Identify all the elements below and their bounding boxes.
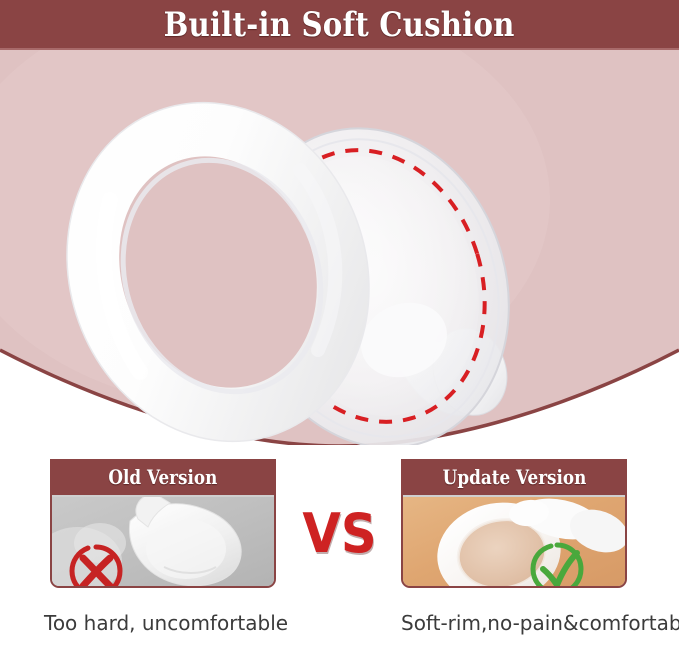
update-version-label: Update Version: [442, 467, 586, 487]
update-version-caption: Soft-rim,no-pain&comfortable: [401, 611, 627, 635]
vs-label: VS: [296, 507, 383, 561]
old-version-caption: Too hard, uncomfortable: [44, 611, 270, 635]
old-version-photo: [52, 497, 274, 588]
product-infographic: Built-in Soft Cushion: [0, 0, 679, 671]
page-title: Built-in Soft Cushion: [164, 8, 515, 42]
update-version-card[interactable]: Update Version Soft-rim,no-pain&comforta…: [401, 459, 627, 588]
old-version-card[interactable]: Old Version Too hard, uncomfortable: [50, 459, 276, 588]
header-banner: Built-in Soft Cushion: [0, 0, 679, 50]
update-version-photo: [403, 497, 625, 588]
hero-illustration: [0, 50, 679, 445]
old-version-label: Old Version: [109, 467, 218, 487]
old-version-header: Old Version: [50, 459, 276, 495]
update-version-header: Update Version: [401, 459, 627, 495]
hero-product-image: [0, 50, 679, 445]
comparison-section: Old Version Too hard, uncomfortable: [0, 445, 679, 671]
